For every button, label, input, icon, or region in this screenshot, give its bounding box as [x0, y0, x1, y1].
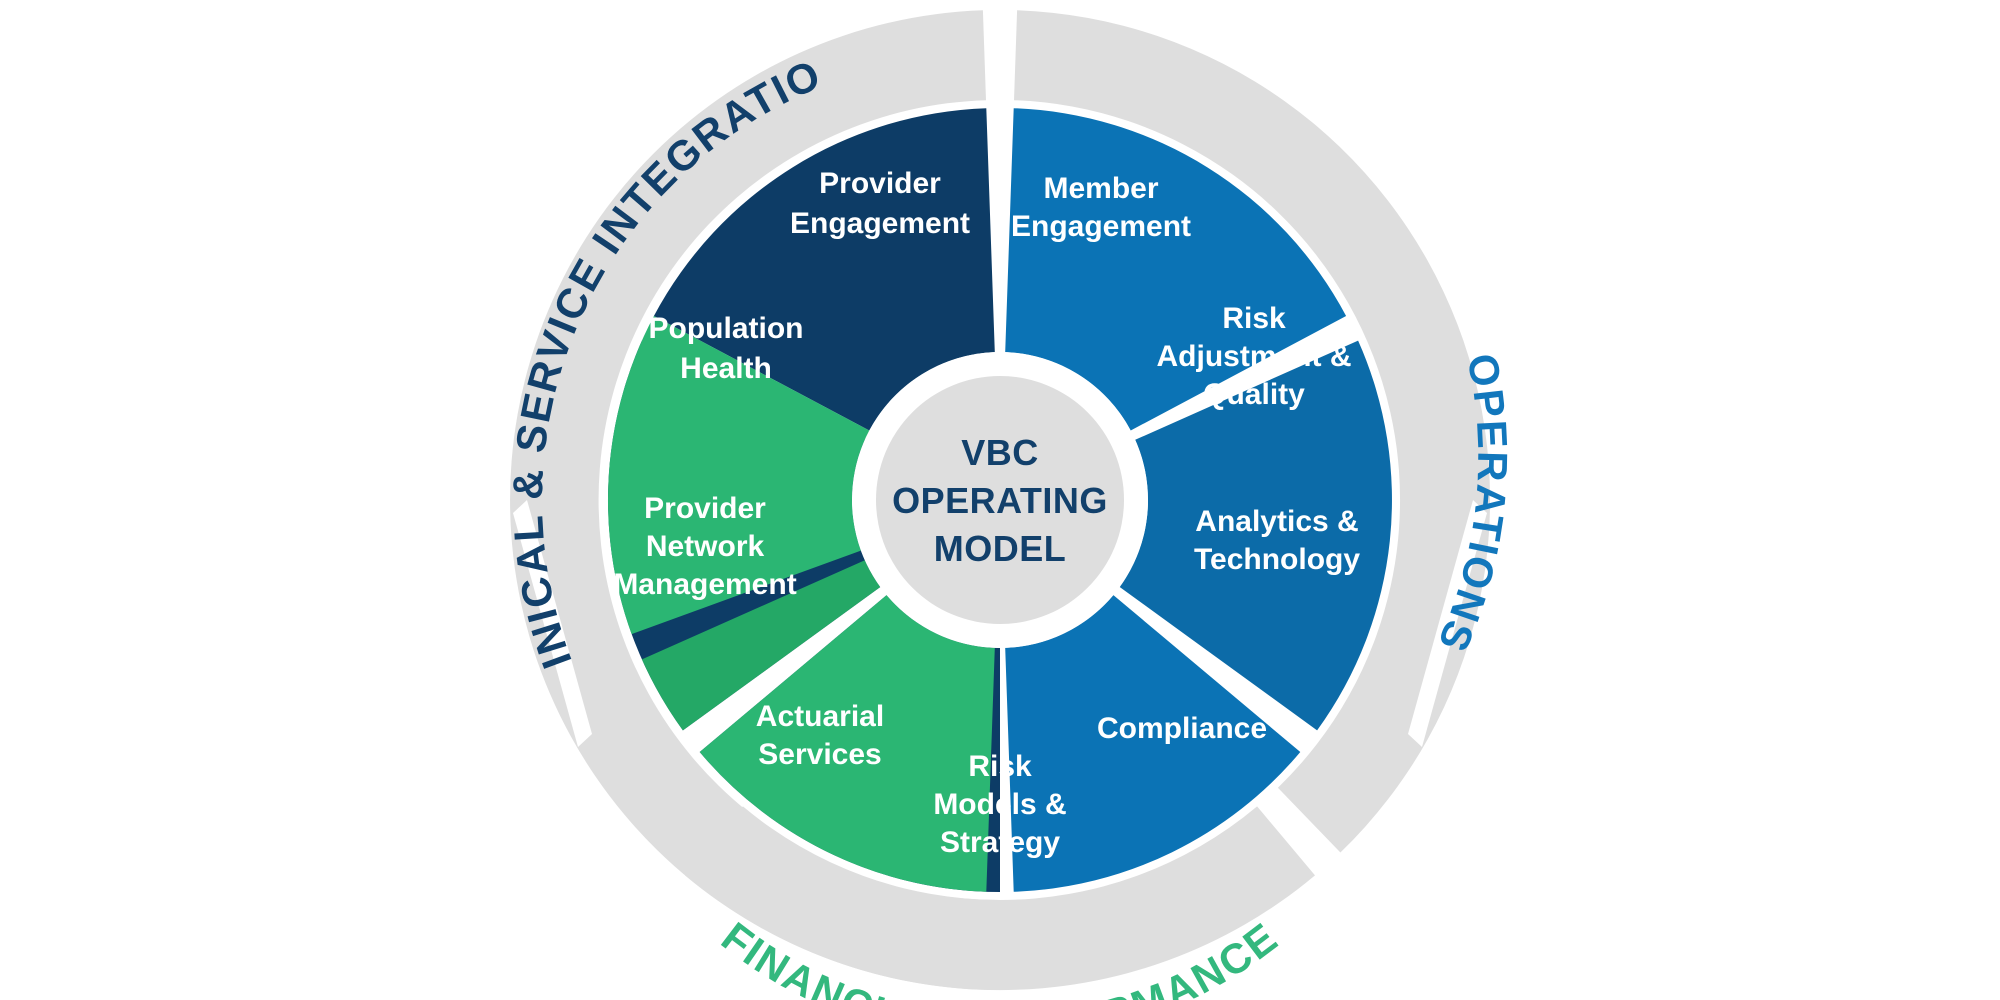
- vbc-operating-model-wheel: VBC OPERATING MODEL Provider Engagement …: [0, 0, 2000, 1000]
- label-provider-engagement-line-0: Provider: [819, 167, 941, 200]
- label-member-engagement-line-0: Member: [1043, 172, 1158, 205]
- label-provider-engagement-line-1: Engagement: [790, 207, 970, 240]
- label-provider-network-management-line-1: Network: [646, 530, 765, 563]
- label-member-engagement-line-1: Engagement: [1011, 210, 1191, 243]
- label-risk-models-strategy-line-1: Models &: [933, 788, 1066, 821]
- label-population-health-line-1: Health: [680, 352, 772, 385]
- label-risk-adjustment-quality-line-2: Quality: [1203, 378, 1305, 411]
- label-risk-models-strategy-line-0: Risk: [968, 750, 1032, 783]
- diagram-canvas: VBC OPERATING MODEL Provider Engagement …: [0, 0, 2000, 1000]
- label-provider-network-management-line-2: Management: [613, 568, 796, 601]
- hub-line-2: OPERATING: [892, 480, 1108, 521]
- label-population-health-line-0: Population: [649, 312, 804, 345]
- label-risk-models-strategy-line-2: Strategy: [940, 826, 1060, 859]
- hub-line-1: VBC: [961, 432, 1039, 473]
- label-risk-adjustment-quality-line-0: Risk: [1222, 302, 1286, 335]
- gap-top: [990, 0, 1010, 120]
- label-actuarial-services-line-0: Actuarial: [756, 700, 884, 733]
- label-compliance: Compliance: [1097, 712, 1267, 745]
- center-hub[interactable]: VBC OPERATING MODEL: [852, 352, 1148, 648]
- label-analytics-technology-line-0: Analytics &: [1195, 505, 1358, 538]
- label-risk-adjustment-quality-line-1: Adjustment &: [1157, 340, 1352, 373]
- hub-line-3: MODEL: [934, 528, 1067, 569]
- label-actuarial-services-line-1: Services: [758, 738, 881, 771]
- label-provider-network-management-line-0: Provider: [644, 492, 766, 525]
- label-compliance-line-0: Compliance: [1097, 712, 1267, 745]
- label-analytics-technology-line-1: Technology: [1194, 543, 1360, 576]
